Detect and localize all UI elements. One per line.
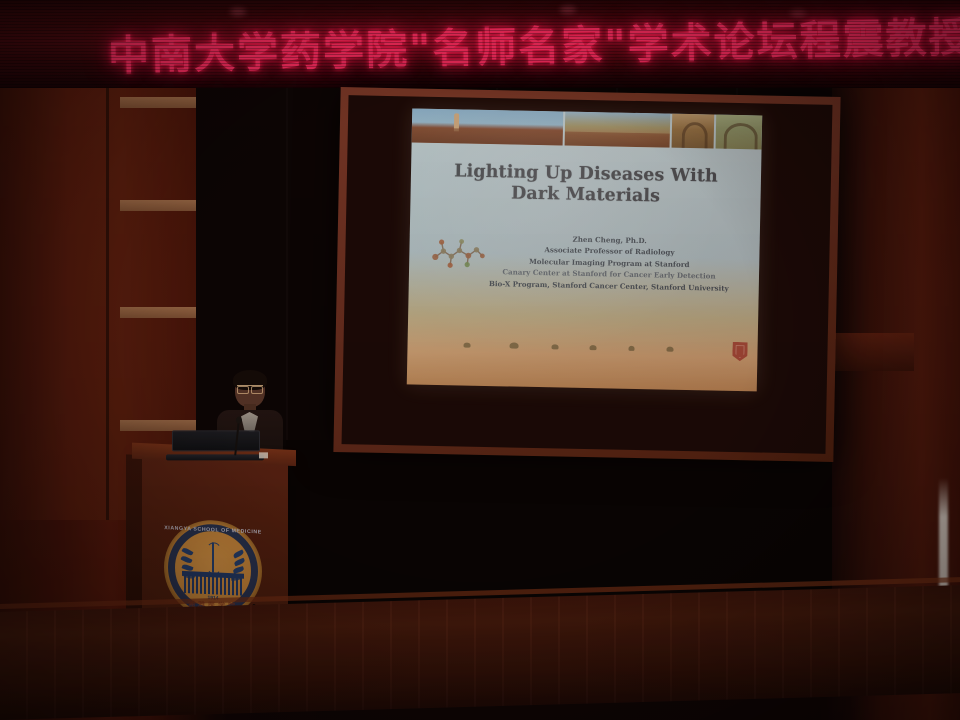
presentation-slide: Lighting Up Diseases With Dark Materials xyxy=(407,108,762,391)
wall-band-4 xyxy=(120,420,196,431)
slide-photo-strip xyxy=(412,108,763,149)
slide-title: Lighting Up Diseases With Dark Materials xyxy=(432,161,739,210)
right-wood-panel xyxy=(832,78,960,638)
photo-hoover-tower-icon xyxy=(412,108,563,145)
laptop-indicator xyxy=(259,452,268,458)
laptop-screen xyxy=(172,430,260,451)
slide-landscape-trees xyxy=(408,330,758,353)
photo-arcade-icon xyxy=(715,115,762,150)
wall-band-2 xyxy=(120,200,196,211)
photo-foothills-icon xyxy=(564,112,670,148)
stanford-shield-icon xyxy=(732,342,747,361)
glasses-icon xyxy=(237,385,263,392)
wall-band-3 xyxy=(120,307,196,318)
photo-arch-icon xyxy=(671,114,714,149)
snake-icon xyxy=(206,542,222,575)
led-banner: 中南大学药学院"名师名家"学术论坛程震教授学术报 xyxy=(0,0,960,88)
projection-screen: Lighting Up Diseases With Dark Materials xyxy=(333,87,840,462)
laptop xyxy=(166,430,262,456)
wall-band-1 xyxy=(120,97,196,108)
laptop-base xyxy=(166,454,264,460)
slide-subtitle-block: Zhen Cheng, Ph.D. Associate Professor of… xyxy=(475,232,744,295)
right-wall-ledge xyxy=(832,333,914,371)
emblem-building-icon xyxy=(184,575,242,596)
lecture-hall-photo: 中南大学药学院"名师名家"学术论坛程震教授学术报 Lighting Up xyxy=(0,0,960,720)
